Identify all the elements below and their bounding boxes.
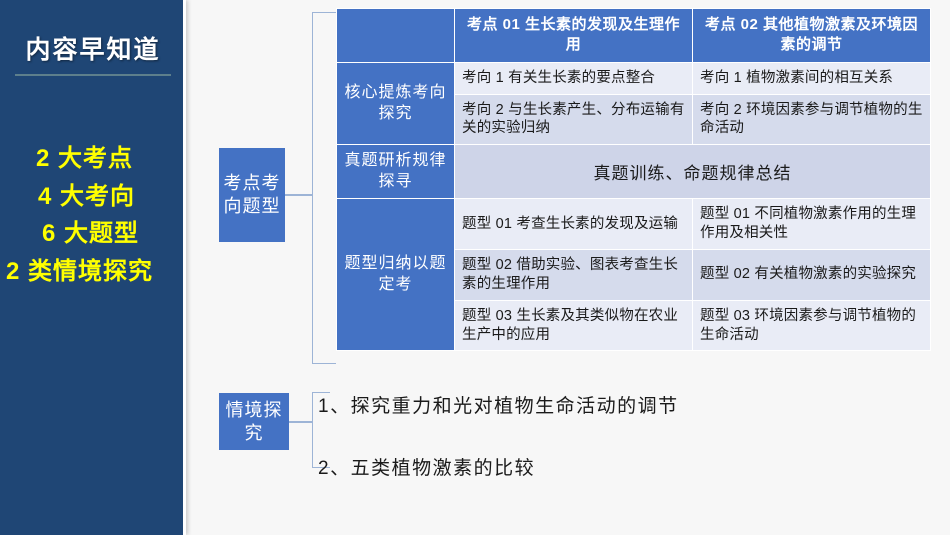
chip-qingjing-label: 情境探究 xyxy=(219,399,289,444)
table-header-row: 考点 01 生长素的发现及生理作用 考点 02 其他植物激素及环境因素的调节 xyxy=(337,9,931,63)
cell-tixing-1-a: 题型 01 考查生长素的发现及运输 xyxy=(455,199,693,250)
table-header-kaodian-02: 考点 02 其他植物激素及环境因素的调节 xyxy=(693,9,931,63)
situation-bracket-stub xyxy=(289,421,313,423)
table-row: 真题研析规律探寻 真题训练、命题规律总结 xyxy=(337,145,931,199)
situation-item-1: 1、探究重力和光对植物生命活动的调节 xyxy=(318,391,679,418)
chip-qingjing-tanjiu[interactable]: 情境探究 xyxy=(219,393,289,450)
slide-root: 内容早知道 2 大考点 4 大考向 6 大题型 2 类情境探究 考点考向题型 考… xyxy=(0,0,950,535)
cell-tixing-3-b: 题型 03 环境因素参与调节植物的生命活动 xyxy=(693,300,931,351)
situation-item-2: 2、五类植物激素的比较 xyxy=(318,453,535,480)
table-bracket xyxy=(312,12,336,364)
cell-kaoxiang-2-b: 考向 2 环境因素参与调节植物的生命活动 xyxy=(693,94,931,145)
content-table: 考点 01 生长素的发现及生理作用 考点 02 其他植物激素及环境因素的调节 核… xyxy=(336,8,931,351)
sidebar-item-qingjing-count: 2 类情境探究 xyxy=(0,253,186,291)
cell-tixing-2-b: 题型 02 有关植物激素的实验探究 xyxy=(693,250,931,301)
cell-kaoxiang-1-a: 考向 1 有关生长素的要点整合 xyxy=(455,62,693,94)
table-header-blank xyxy=(337,9,455,63)
cell-kaoxiang-2-a: 考向 2 与生长素产生、分布运输有关的实验归纳 xyxy=(455,94,693,145)
cell-tixing-3-a: 题型 03 生长素及其类似物在农业生产中的应用 xyxy=(455,300,693,351)
title-divider xyxy=(15,74,171,76)
chip-kaodian-kaoxiang-tixing[interactable]: 考点考向题型 xyxy=(219,148,285,242)
sidebar-item-kaoxiang-count: 4 大考向 xyxy=(0,178,186,216)
sidebar-item-tixing-count: 6 大题型 xyxy=(0,215,186,253)
sidebar-item-kaodian-count: 2 大考点 xyxy=(0,140,186,178)
section-label-hexin-tilian: 核心提炼考向探究 xyxy=(337,62,455,145)
table-row: 题型归纳以题定考 题型 01 考查生长素的发现及运输 题型 01 不同植物激素作… xyxy=(337,199,931,250)
table-bracket-stub xyxy=(285,194,313,196)
sidebar-panel: 内容早知道 2 大考点 4 大考向 6 大题型 2 类情境探究 xyxy=(0,0,186,535)
cell-tixing-2-a: 题型 02 借助实验、图表考查生长素的生理作用 xyxy=(455,250,693,301)
cell-kaoxiang-1-b: 考向 1 植物激素间的相互关系 xyxy=(693,62,931,94)
table-row: 核心提炼考向探究 考向 1 有关生长素的要点整合 考向 1 植物激素间的相互关系 xyxy=(337,62,931,94)
chip-kaodian-label: 考点考向题型 xyxy=(219,172,285,217)
section-label-tixing-guina: 题型归纳以题定考 xyxy=(337,199,455,351)
section-label-zhenti-yanxi: 真题研析规律探寻 xyxy=(337,145,455,199)
cell-zhenti-merged: 真题训练、命题规律总结 xyxy=(455,145,931,199)
table-header-kaodian-01: 考点 01 生长素的发现及生理作用 xyxy=(455,9,693,63)
page-title: 内容早知道 xyxy=(0,30,186,66)
sidebar-highlight-list: 2 大考点 4 大考向 6 大题型 2 类情境探究 xyxy=(0,140,186,291)
cell-tixing-1-b: 题型 01 不同植物激素作用的生理作用及相关性 xyxy=(693,199,931,250)
